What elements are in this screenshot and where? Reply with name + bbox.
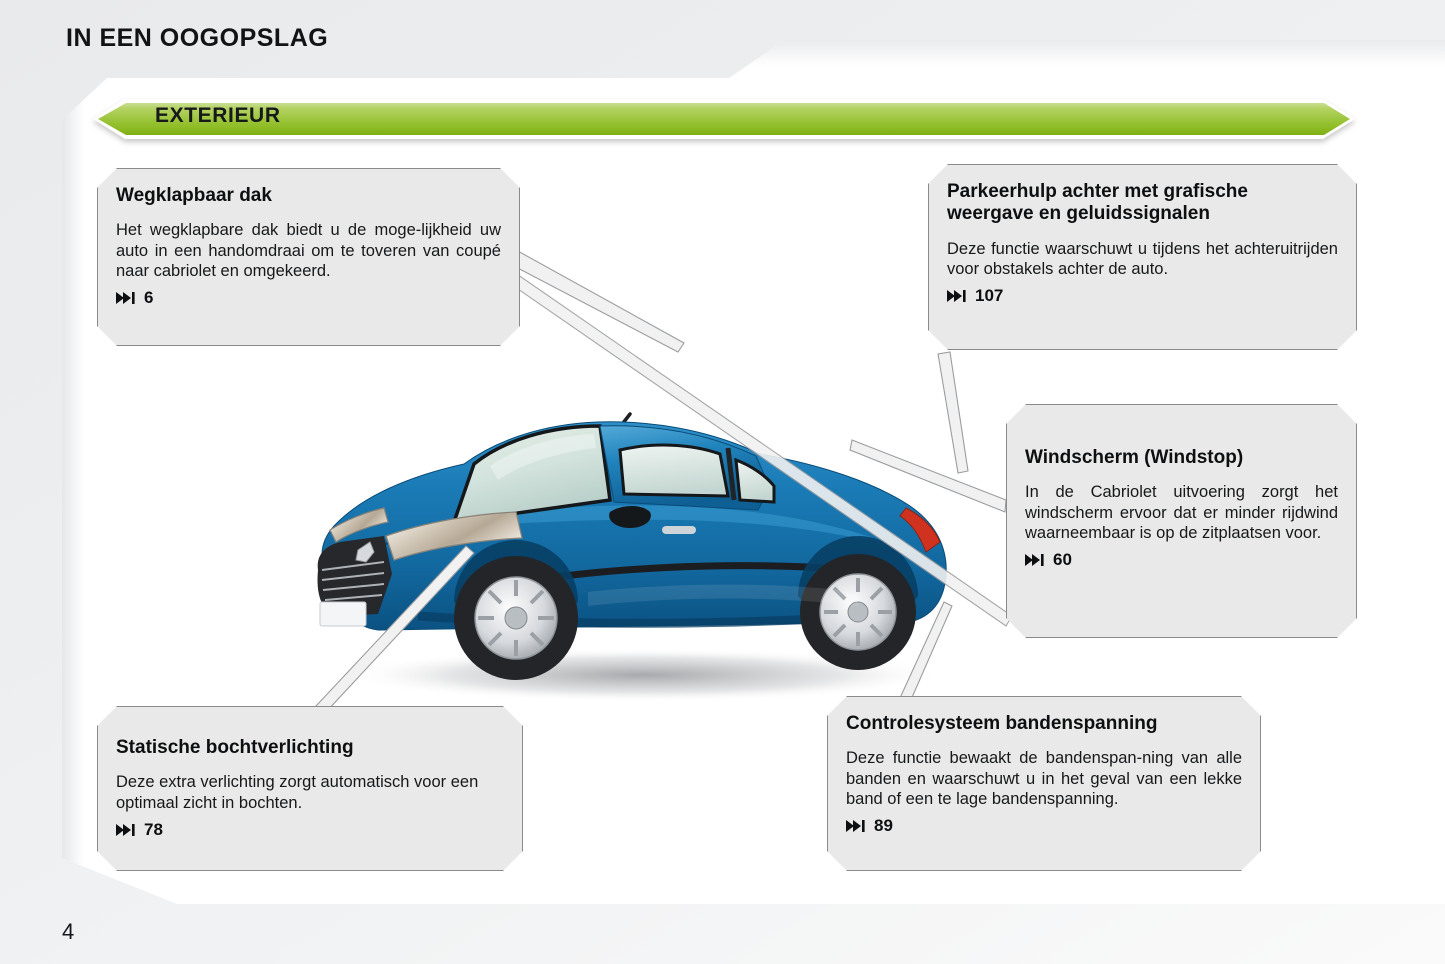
page-reference-number: 6 — [144, 288, 153, 308]
page-reference-number: 78 — [144, 820, 163, 840]
callout-statische-bochtverlichting[interactable]: Statische bochtverlichting Deze extra ve… — [97, 706, 523, 871]
callout-inner: Wegklapbaar dak Het wegklapbare dak bied… — [98, 169, 519, 318]
callout-body: Deze functie bewaakt de bandenspan-ning … — [846, 748, 1242, 808]
callout-inner: Statische bochtverlichting Deze extra ve… — [98, 707, 522, 850]
callout-title: Windscherm (Windstop) — [1025, 447, 1338, 469]
panel-left-shade — [62, 40, 84, 904]
callout-title: Controlesysteem bandenspanning — [846, 713, 1242, 735]
page-reference[interactable]: 60 — [1025, 550, 1338, 570]
car-wheel-front — [454, 556, 578, 680]
skip-forward-icon — [116, 823, 136, 837]
car-svg — [258, 330, 998, 720]
page-title: IN EEN OOGOPSLAG — [66, 24, 328, 53]
callout-title: Parkeerhulp achter met grafische weergav… — [947, 181, 1338, 226]
page-reference-number: 89 — [874, 816, 893, 836]
callout-wegklapbaar-dak[interactable]: Wegklapbaar dak Het wegklapbare dak bied… — [97, 168, 520, 346]
callout-title: Wegklapbaar dak — [116, 185, 501, 207]
page-number: 4 — [62, 919, 74, 945]
skip-forward-icon — [947, 289, 967, 303]
page-reference[interactable]: 78 — [116, 820, 504, 840]
callout-body: Deze extra verlichting zorgt automatisch… — [116, 772, 504, 812]
callout-body: Het wegklapbare dak biedt u de moge-lijk… — [116, 220, 501, 280]
car-side-window-front — [620, 445, 728, 496]
skip-forward-icon — [846, 819, 866, 833]
page-reference-number: 107 — [975, 286, 1003, 306]
page-reference-number: 60 — [1053, 550, 1072, 570]
section-banner — [93, 99, 1355, 139]
page-reference[interactable]: 89 — [846, 816, 1242, 836]
skip-forward-icon — [1025, 553, 1045, 567]
car-wheel-rear — [800, 554, 916, 670]
callout-parkeerhulp-achter[interactable]: Parkeerhulp achter met grafische weergav… — [928, 164, 1357, 350]
car-number-plate — [320, 602, 366, 626]
page-reference[interactable]: 6 — [116, 288, 501, 308]
callout-inner: Windscherm (Windstop) In de Cabriolet ui… — [1007, 405, 1356, 580]
page-reference[interactable]: 107 — [947, 286, 1338, 306]
callout-body: In de Cabriolet uitvoering zorgt het win… — [1025, 482, 1338, 542]
car-illustration — [258, 330, 998, 720]
callout-body: Deze functie waarschuwt u tijdens het ac… — [947, 239, 1338, 279]
skip-forward-icon — [116, 291, 136, 305]
callout-title: Statische bochtverlichting — [116, 737, 504, 759]
callout-controlesysteem-bandenspanning[interactable]: Controlesysteem bandenspanning Deze func… — [827, 696, 1261, 871]
section-banner-label: EXTERIEUR — [155, 104, 281, 128]
manual-page: IN EEN OOGOPSLAG EXTERIEUR — [0, 0, 1445, 964]
car-door-handle — [662, 526, 696, 534]
callout-inner: Parkeerhulp achter met grafische weergav… — [929, 165, 1356, 316]
callout-windscherm-windstop[interactable]: Windscherm (Windstop) In de Cabriolet ui… — [1006, 404, 1357, 638]
section-banner-fill — [98, 103, 1350, 135]
callout-inner: Controlesysteem bandenspanning Deze func… — [828, 697, 1260, 846]
